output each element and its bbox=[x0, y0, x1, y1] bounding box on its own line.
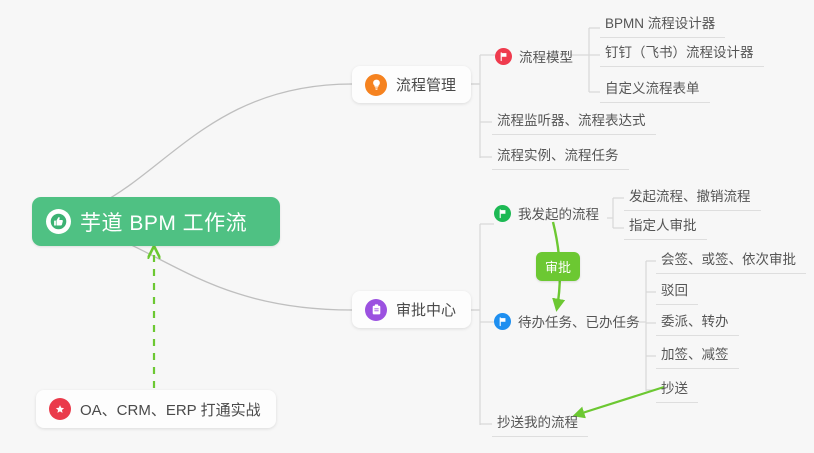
leaf-my-initiated[interactable]: 我发起的流程 bbox=[494, 203, 599, 227]
root-node[interactable]: 芋道 BPM 工作流 bbox=[32, 197, 280, 246]
flag-icon bbox=[494, 205, 511, 222]
mindmap-canvas: 芋道 BPM 工作流 流程管理 流程模型 BPMN 流程设计器 钉钉（飞书）流程… bbox=[0, 0, 814, 453]
leaf-countersign[interactable]: 会签、或签、依次审批 bbox=[656, 248, 806, 274]
approve-badge: 审批 bbox=[536, 252, 580, 281]
leaf-my-initiated-label: 我发起的流程 bbox=[518, 203, 599, 223]
leaf-custom-form[interactable]: 自定义流程表单 bbox=[600, 77, 710, 103]
leaf-todo-done-tasks[interactable]: 待办任务、已办任务 bbox=[494, 311, 640, 335]
leaf-cc[interactable]: 抄送 bbox=[656, 377, 698, 403]
leaf-assignee-approve[interactable]: 指定人审批 bbox=[624, 214, 707, 240]
node-process-management[interactable]: 流程管理 bbox=[352, 66, 471, 103]
clipboard-icon bbox=[365, 299, 387, 321]
star-icon bbox=[49, 398, 71, 420]
node-approval-center-label: 审批中心 bbox=[396, 299, 456, 320]
node-integration-note[interactable]: OA、CRM、ERP 打通实战 bbox=[36, 390, 276, 428]
leaf-bpmn-designer[interactable]: BPMN 流程设计器 bbox=[600, 12, 725, 38]
leaf-process-listener[interactable]: 流程监听器、流程表达式 bbox=[492, 109, 656, 135]
arrow-cc-to-ccflow bbox=[576, 387, 664, 415]
leaf-todo-done-tasks-label: 待办任务、已办任务 bbox=[518, 311, 640, 331]
leaf-start-cancel-process[interactable]: 发起流程、撤销流程 bbox=[624, 185, 761, 211]
leaf-cc-to-me[interactable]: 抄送我的流程 bbox=[492, 411, 588, 437]
leaf-reject[interactable]: 驳回 bbox=[656, 279, 698, 305]
leaf-process-model[interactable]: 流程模型 bbox=[495, 46, 573, 70]
leaf-add-remove-sign[interactable]: 加签、减签 bbox=[656, 343, 739, 369]
flag-icon bbox=[494, 313, 511, 330]
node-process-management-label: 流程管理 bbox=[396, 74, 456, 95]
node-integration-note-label: OA、CRM、ERP 打通实战 bbox=[80, 399, 261, 420]
leaf-delegate-transfer[interactable]: 委派、转办 bbox=[656, 310, 739, 336]
root-label: 芋道 BPM 工作流 bbox=[80, 207, 247, 237]
node-approval-center[interactable]: 审批中心 bbox=[352, 291, 471, 328]
leaf-dingtalk-designer[interactable]: 钉钉（飞书）流程设计器 bbox=[600, 41, 764, 67]
thumbs-up-icon bbox=[46, 209, 71, 234]
leaf-process-instance[interactable]: 流程实例、流程任务 bbox=[492, 144, 629, 170]
leaf-process-model-label: 流程模型 bbox=[519, 46, 573, 66]
lightbulb-icon bbox=[365, 74, 387, 96]
flag-icon bbox=[495, 48, 512, 65]
